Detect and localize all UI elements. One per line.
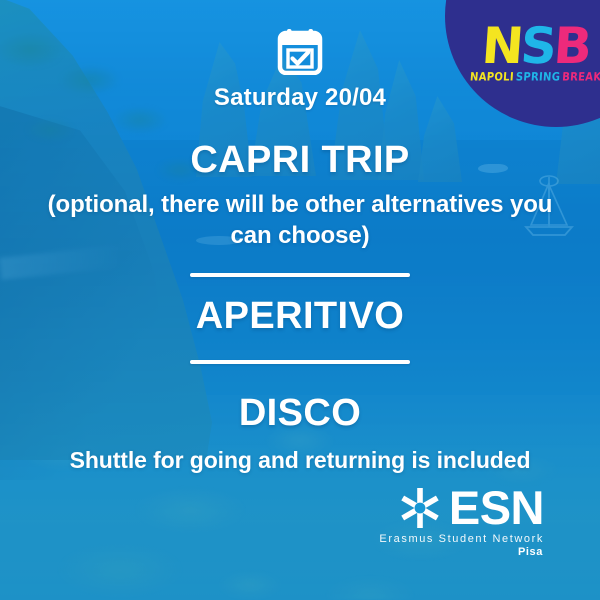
esn-wordmark: ESN — [449, 484, 544, 531]
event-title-capri-note: (optional, there will be other alternati… — [30, 190, 570, 251]
esn-star-icon — [399, 487, 441, 529]
shuttle-note: Shuttle for going and returning is inclu… — [70, 447, 531, 474]
event-title-capri: CAPRI TRIP — [190, 139, 409, 182]
divider-top — [190, 273, 410, 277]
esn-logo: ESN Erasmus Student Network Pisa — [379, 484, 544, 558]
event-date: Saturday 20/04 — [214, 84, 386, 112]
calendar-check-icon — [276, 27, 324, 75]
esn-tagline: Erasmus Student Network — [379, 533, 544, 545]
esn-logo-main: ESN — [399, 484, 544, 531]
event-title-disco: DISCO — [239, 392, 361, 435]
esn-section-city: Pisa — [518, 546, 543, 558]
promo-poster: NSB NAPOLISPRINGBREAK Saturday 20/04 CAP… — [0, 0, 600, 600]
divider-bottom — [190, 360, 410, 364]
event-title-aperitivo: APERITIVO — [196, 295, 404, 338]
